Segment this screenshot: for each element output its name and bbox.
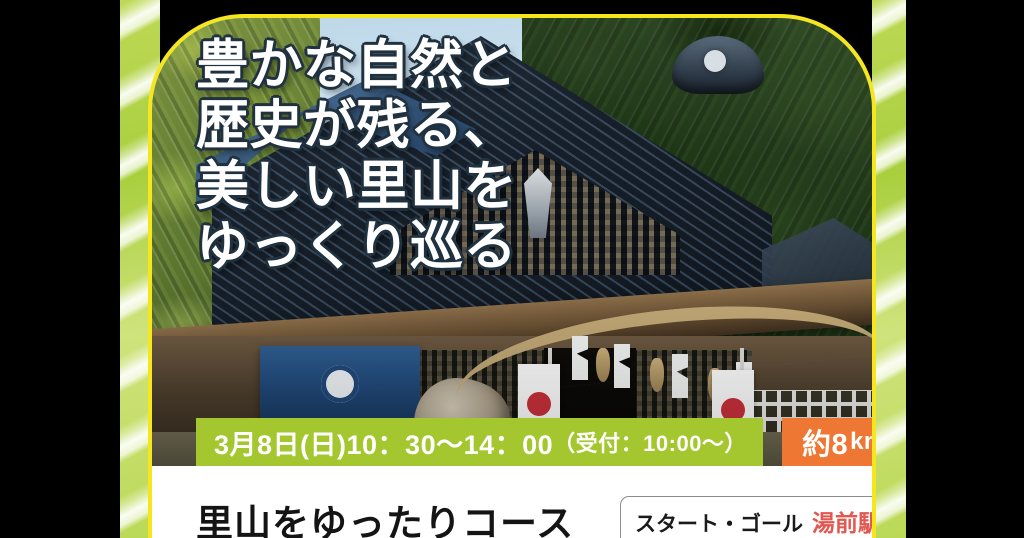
course-title: 里山をゆったりコース [196, 493, 574, 538]
distance-value: 約8 [802, 421, 848, 463]
event-date: 3月8日(日) [214, 423, 347, 462]
ribbon-stripes-right [872, 0, 906, 538]
green-ribbon-right [872, 0, 906, 538]
event-time: 10：30〜14：00 [347, 423, 554, 462]
start-goal-station: 湯前駅 [812, 504, 876, 538]
headline-line-4: ゆっくり巡る [196, 217, 517, 277]
headline-line-2: 歴史が残る、 [196, 96, 517, 156]
headline-line-1: 豊かな自然と [196, 36, 517, 96]
start-goal-box: スタート・ゴール 湯前駅 [620, 496, 876, 538]
event-reception: （受付：10:00〜） [553, 426, 747, 458]
poster-screenshot: 豊かな自然と 歴史が残る、 美しい里山を ゆっくり巡る 3月8日(日) 10：3… [0, 0, 1024, 538]
flyer-card: 豊かな自然と 歴史が残る、 美しい里山を ゆっくり巡る 3月8日(日) 10：3… [148, 14, 876, 538]
distance-unit: km [850, 428, 876, 456]
headline-text: 豊かな自然と 歴史が残る、 美しい里山を ゆっくり巡る [196, 36, 517, 278]
course-info-panel: 里山をゆったりコース スタート・ゴール 湯前駅 [152, 466, 872, 538]
headline-line-3: 美しい里山を [196, 157, 517, 217]
event-info-strip: 3月8日(日) 10：30〜14：00 （受付：10:00〜） 約8 km [152, 418, 872, 466]
date-time-bar: 3月8日(日) 10：30〜14：00 （受付：10:00〜） [196, 418, 763, 466]
distance-badge: 約8 km [782, 418, 876, 466]
start-goal-label: スタート・ゴール [635, 508, 803, 538]
